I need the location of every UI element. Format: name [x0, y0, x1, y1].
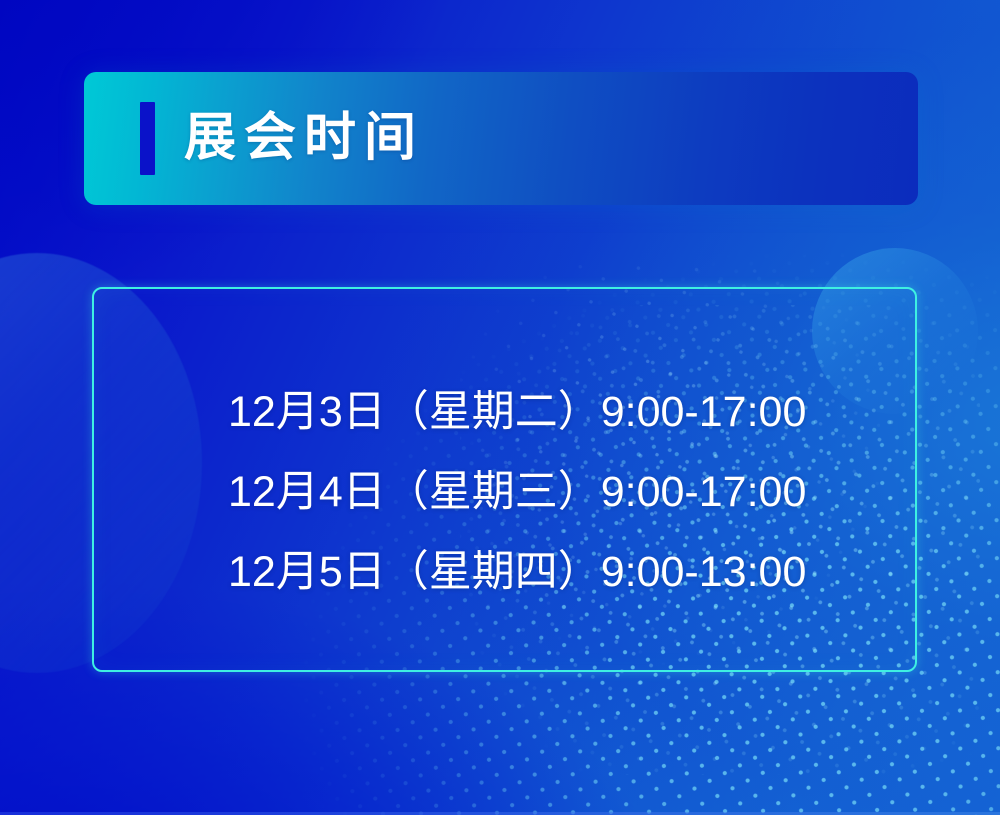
schedule-list: 12月3日（星期二）9:00-17:00 12月4日（星期三）9:00-17:0… [228, 372, 848, 612]
poster-canvas: 展会时间 12月3日（星期二）9:00-17:00 12月4日（星期三）9:00… [0, 0, 1000, 815]
schedule-row: 12月5日（星期四）9:00-13:00 [228, 532, 848, 612]
page-title: 展会时间 [184, 101, 424, 175]
header-accent-bar [140, 102, 155, 175]
schedule-row: 12月4日（星期三）9:00-17:00 [228, 452, 848, 532]
schedule-row: 12月3日（星期二）9:00-17:00 [228, 372, 848, 452]
section-header-bar: 展会时间 [84, 72, 918, 205]
